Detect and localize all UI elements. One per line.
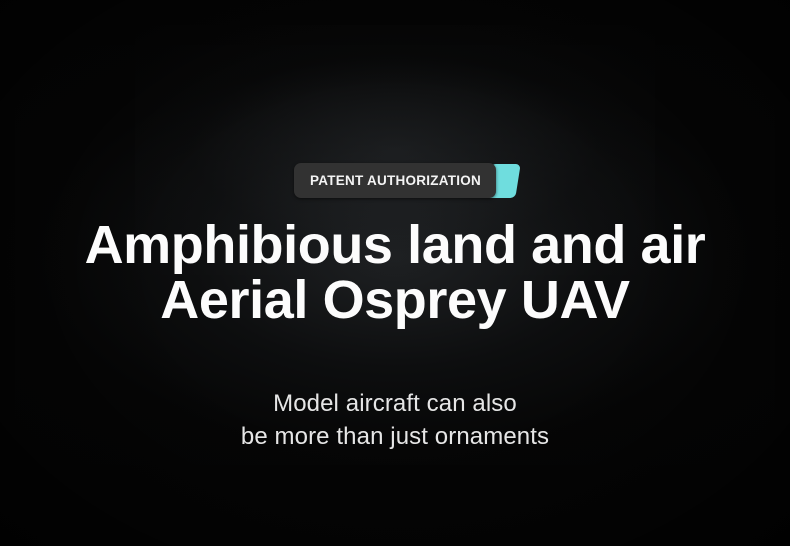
hero-content: PATENT AUTHORIZATION Amphibious land and…	[0, 0, 790, 546]
badge-body: PATENT AUTHORIZATION	[294, 163, 496, 198]
page-title: Amphibious land and air Aerial Osprey UA…	[85, 218, 706, 328]
page-title-line-1: Amphibious land and air	[85, 218, 706, 273]
page-subtitle-line-1: Model aircraft can also	[241, 387, 549, 420]
patent-badge: PATENT AUTHORIZATION	[294, 163, 496, 200]
hero-banner: PATENT AUTHORIZATION Amphibious land and…	[0, 0, 790, 546]
page-subtitle-line-2: be more than just ornaments	[241, 420, 549, 453]
badge-label: PATENT AUTHORIZATION	[310, 173, 481, 188]
page-subtitle: Model aircraft can also be more than jus…	[241, 387, 549, 453]
page-title-line-2: Aerial Osprey UAV	[85, 273, 706, 328]
